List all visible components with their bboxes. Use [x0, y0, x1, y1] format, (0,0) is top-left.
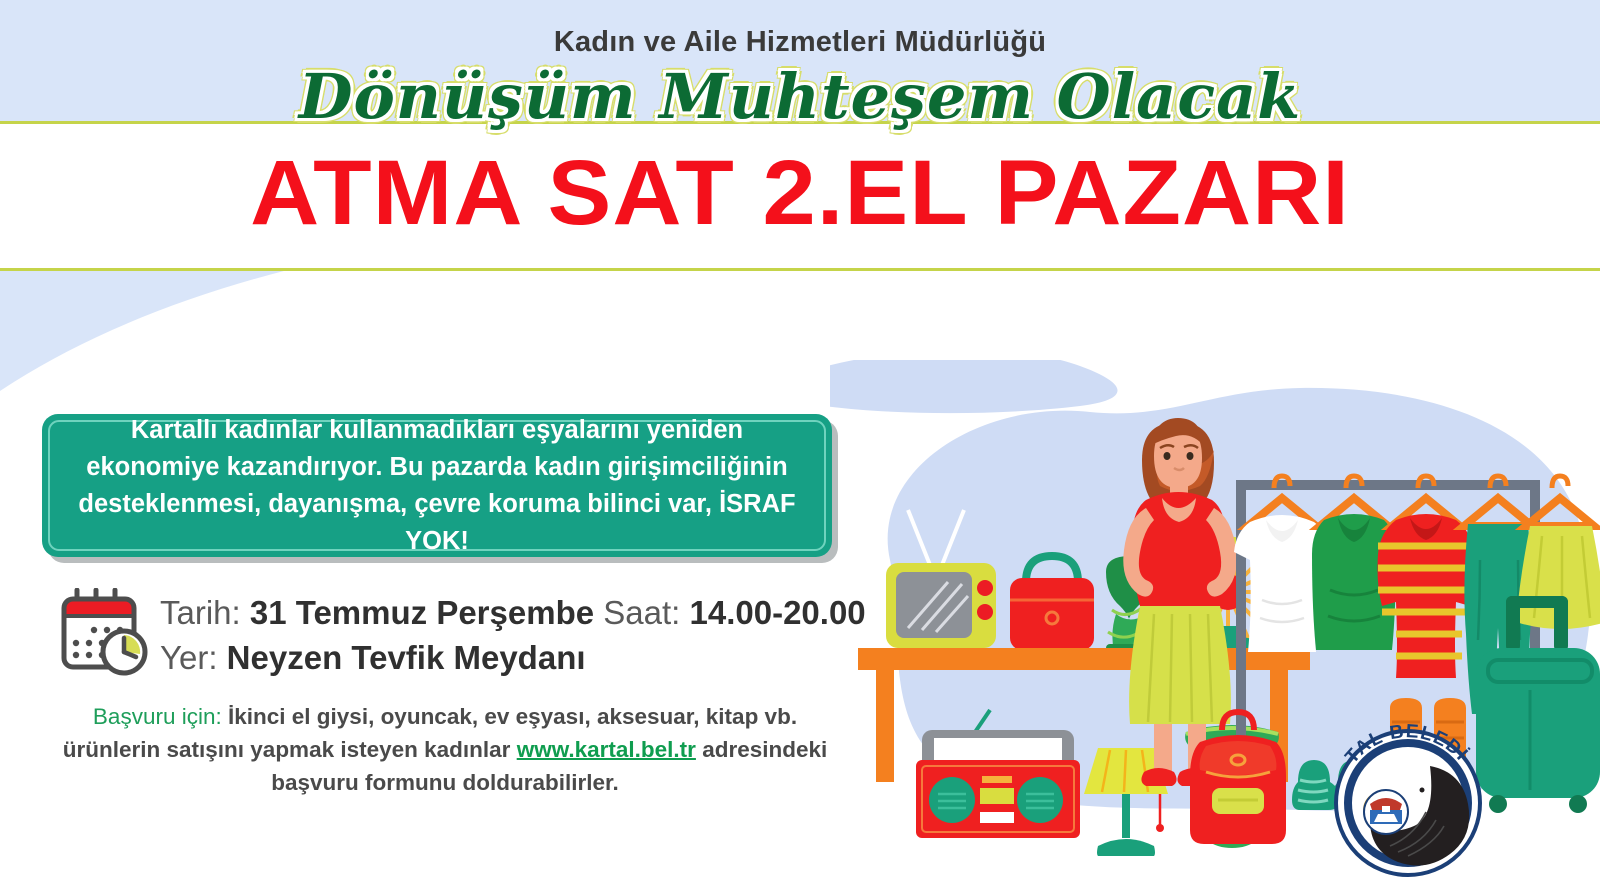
second-hand-market-illustration: KARTAL BELEDİYESİ	[830, 360, 1600, 893]
application-paragraph: Başvuru için: İkinci el giysi, oyuncak, …	[60, 700, 830, 799]
message-text: Kartallı kadınlar kullanmadıkları eşyala…	[50, 412, 824, 560]
time-label: Saat:	[603, 594, 680, 631]
application-lead: Başvuru için:	[93, 704, 222, 729]
event-place-line: Yer: Neyzen Tevfik Meydanı	[160, 635, 860, 680]
place-label: Yer:	[160, 639, 218, 676]
department-title: Kadın ve Aile Hizmetleri Müdürlüğü	[0, 26, 1600, 59]
poster-root: Kadın ve Aile Hizmetleri Müdürlüğü Dönüş…	[0, 0, 1600, 893]
calendar-clock-icon	[56, 588, 152, 676]
main-title: ATMA SAT 2.EL PAZARI	[0, 143, 1600, 243]
date-label: Tarih:	[160, 594, 241, 631]
place-value: Neyzen Tevfik Meydanı	[227, 639, 586, 676]
event-details: Tarih: 31 Temmuz Perşembe Saat: 14.00-20…	[160, 590, 860, 680]
message-box-inner-border: Kartallı kadınlar kullanmadıkları eşyala…	[48, 420, 826, 551]
script-tagline: Dönüşüm Muhteşem Olacak	[299, 60, 1301, 133]
message-box: Kartallı kadınlar kullanmadıkları eşyala…	[42, 414, 832, 557]
script-tagline-wrap: Dönüşüm Muhteşem Olacak	[0, 60, 1600, 140]
event-date-time-line: Tarih: 31 Temmuz Perşembe Saat: 14.00-20…	[160, 590, 860, 635]
date-value: 31 Temmuz Perşembe	[250, 594, 594, 631]
application-url-link[interactable]: www.kartal.bel.tr	[517, 737, 696, 762]
